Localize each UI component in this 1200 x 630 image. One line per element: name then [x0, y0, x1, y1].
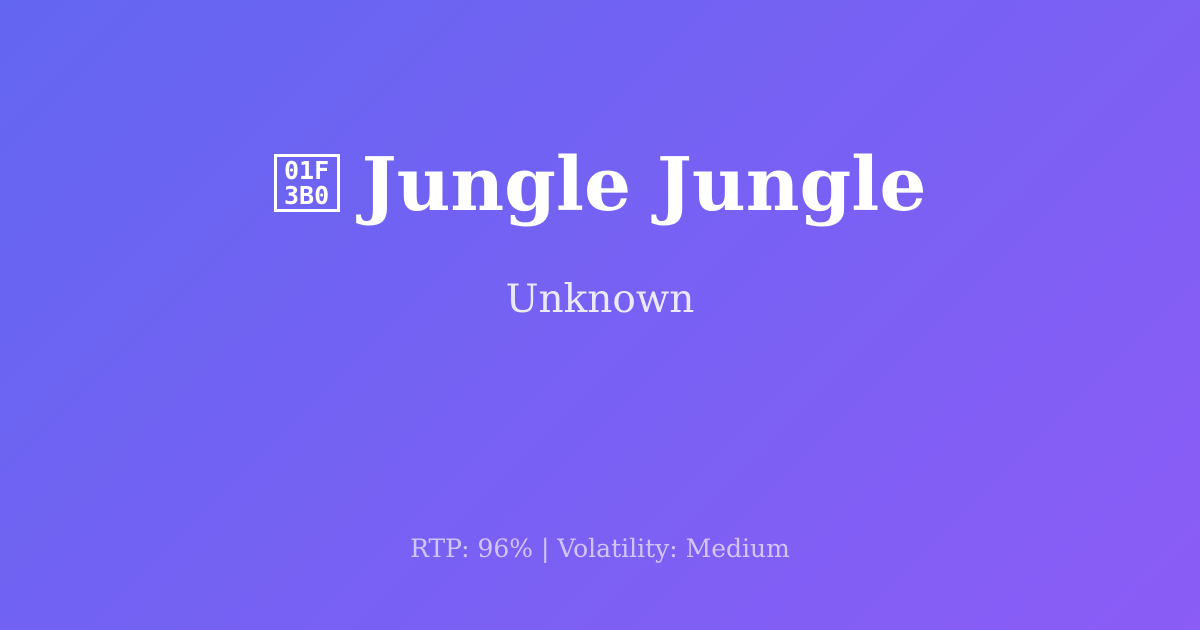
game-meta-line: RTP: 96% | Volatility: Medium: [0, 534, 1200, 564]
game-title: Jungle Jungle: [362, 146, 927, 224]
game-provider-subtitle: Unknown: [506, 277, 695, 324]
tofu-codepoint-top: 01F: [284, 158, 329, 183]
tofu-codepoint-bottom: 3B0: [284, 183, 329, 208]
card-content-stack: 01F 3B0 Jungle Jungle Unknown: [0, 0, 1200, 470]
title-row: 01F 3B0 Jungle Jungle: [274, 146, 927, 224]
slot-machine-icon: 01F 3B0: [274, 154, 340, 212]
game-share-card: 01F 3B0 Jungle Jungle Unknown RTP: 96% |…: [0, 0, 1200, 630]
